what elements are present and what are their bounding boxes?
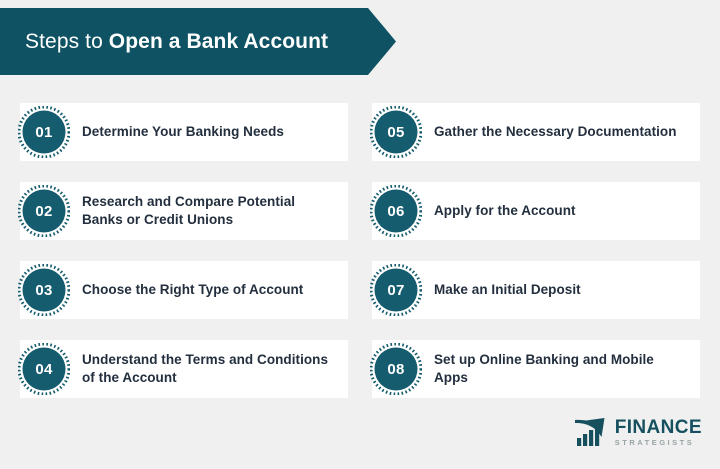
step-label: Gather the Necessary Documentation	[434, 123, 677, 141]
steps-grid: 01 Determine Your Banking Needs 02 Resea…	[0, 103, 720, 398]
step-number: 01	[35, 124, 52, 141]
step-item[interactable]: 03 Choose the Right Type of Account	[20, 261, 348, 319]
steps-column-right: 05 Gather the Necessary Documentation 06…	[372, 103, 700, 398]
logo-wordmark: FINANCE STRATEGISTS	[615, 418, 702, 447]
logo-name: FINANCE	[615, 418, 702, 437]
step-number: 05	[387, 124, 404, 141]
step-item[interactable]: 06 Apply for the Account	[372, 182, 700, 240]
step-label: Make an Initial Deposit	[434, 281, 581, 299]
step-number-badge: 06	[370, 185, 422, 237]
step-label: Understand the Terms and Conditions of t…	[82, 351, 336, 387]
step-label: Set up Online Banking and Mobile Apps	[434, 351, 688, 387]
step-label: Choose the Right Type of Account	[82, 281, 303, 299]
step-item[interactable]: 08 Set up Online Banking and Mobile Apps	[372, 340, 700, 398]
step-number-badge: 08	[370, 343, 422, 395]
steps-column-left: 01 Determine Your Banking Needs 02 Resea…	[20, 103, 348, 398]
step-number: 08	[387, 361, 404, 378]
step-number: 06	[387, 203, 404, 220]
step-number-badge: 03	[18, 264, 70, 316]
step-number: 07	[387, 282, 404, 299]
page-title-prefix: Steps to	[25, 30, 109, 53]
step-number: 04	[35, 361, 52, 378]
page-title: Steps to Open a Bank Account	[0, 30, 328, 54]
step-number-badge: 07	[370, 264, 422, 316]
step-number-badge: 04	[18, 343, 70, 395]
step-number: 03	[35, 282, 52, 299]
infographic-page: Steps to Open a Bank Account 01 Determin…	[0, 0, 720, 469]
step-item[interactable]: 02 Research and Compare Potential Banks …	[20, 182, 348, 240]
step-item[interactable]: 05 Gather the Necessary Documentation	[372, 103, 700, 161]
header-banner: Steps to Open a Bank Account	[0, 8, 396, 75]
step-item[interactable]: 01 Determine Your Banking Needs	[20, 103, 348, 161]
logo-tagline: STRATEGISTS	[615, 439, 702, 447]
page-title-emphasis: Open a Bank Account	[109, 30, 328, 53]
step-number: 02	[35, 203, 52, 220]
step-number-badge: 05	[370, 106, 422, 158]
step-label: Research and Compare Potential Banks or …	[82, 193, 336, 229]
step-item[interactable]: 07 Make an Initial Deposit	[372, 261, 700, 319]
step-label: Apply for the Account	[434, 202, 576, 220]
step-label: Determine Your Banking Needs	[82, 123, 284, 141]
step-number-badge: 01	[18, 106, 70, 158]
brand-logo: FINANCE STRATEGISTS	[574, 417, 702, 447]
step-item[interactable]: 04 Understand the Terms and Conditions o…	[20, 340, 348, 398]
step-number-badge: 02	[18, 185, 70, 237]
bar-chart-swoosh-icon	[574, 417, 608, 447]
